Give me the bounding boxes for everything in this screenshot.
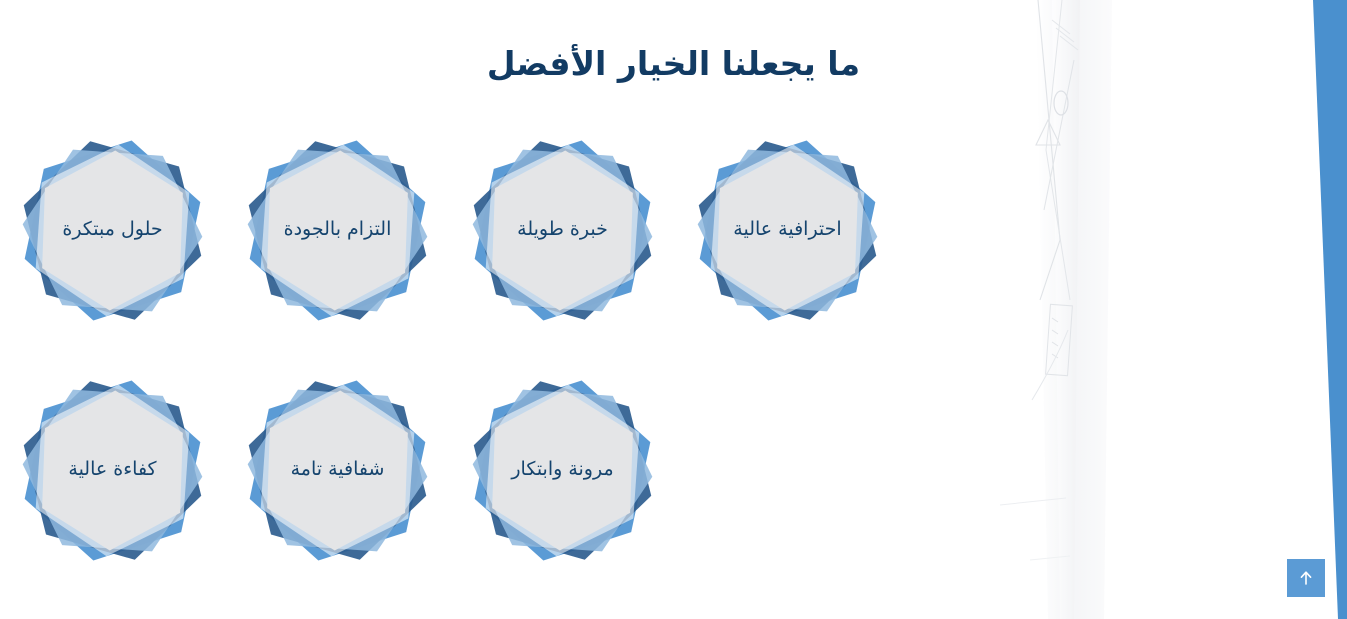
badge-row-1: حلول مبتكرة التزام بالجودة [0, 118, 1110, 343]
badge-row-2: كفاءة عالية شفافية تامة [0, 358, 997, 583]
features-badge-grid: حلول مبتكرة التزام بالجودة [0, 118, 1347, 583]
badge-label: حلول مبتكرة [62, 217, 162, 244]
badge-quality-commitment[interactable]: التزام بالجودة [225, 118, 450, 343]
badge-flexibility-innovation[interactable]: مرونة وابتكار [450, 358, 675, 583]
badge-long-experience[interactable]: خبرة طويلة [450, 118, 675, 343]
badge-high-professionalism[interactable]: احترافية عالية [675, 118, 900, 343]
badge-label: كفاءة عالية [68, 457, 156, 484]
badge-innovative-solutions[interactable]: حلول مبتكرة [0, 118, 225, 343]
arrow-up-icon [1296, 568, 1316, 588]
badge-high-efficiency[interactable]: كفاءة عالية [0, 358, 225, 583]
badge-label: احترافية عالية [733, 217, 841, 244]
scroll-to-top-button[interactable] [1287, 559, 1325, 597]
badge-label: خبرة طويلة [517, 217, 608, 244]
badge-label: شفافية تامة [291, 457, 385, 484]
badge-label: التزام بالجودة [284, 217, 392, 244]
badge-full-transparency[interactable]: شفافية تامة [225, 358, 450, 583]
badge-label: مرونة وابتكار [511, 457, 613, 484]
page-title: ما يجعلنا الخيار الأفضل [0, 44, 1347, 83]
